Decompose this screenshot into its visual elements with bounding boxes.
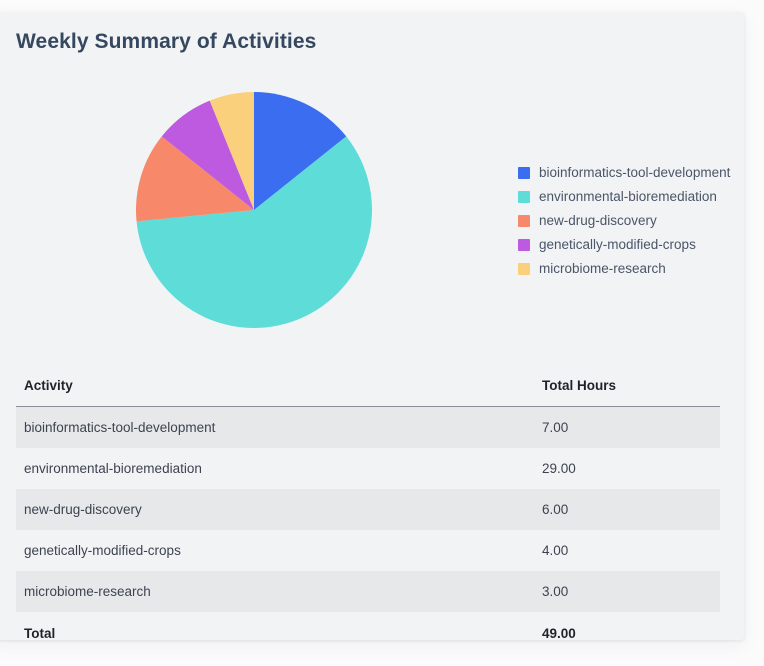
summary-table-wrap: Activity Total Hours bioinformatics-tool… (16, 372, 720, 640)
legend-item[interactable]: microbiome-research (518, 261, 730, 277)
cell-activity: microbiome-research (16, 571, 534, 612)
page-title: Weekly Summary of Activities (16, 30, 316, 54)
cell-total-hours: 29.00 (534, 448, 720, 489)
total-label: Total (16, 612, 534, 640)
table-row: genetically-modified-crops4.00 (16, 530, 720, 571)
pie-chart-svg (136, 92, 372, 328)
column-header-total-hours: Total Hours (534, 372, 720, 407)
legend-item-label: genetically-modified-crops (539, 237, 696, 253)
legend-item[interactable]: environmental-bioremediation (518, 189, 730, 205)
table-row: microbiome-research3.00 (16, 571, 720, 612)
cell-total-hours: 4.00 (534, 530, 720, 571)
legend-item-label: microbiome-research (539, 261, 666, 277)
legend-item[interactable]: genetically-modified-crops (518, 237, 730, 253)
chart-area: bioinformatics-tool-developmentenvironme… (0, 80, 744, 365)
cell-activity: genetically-modified-crops (16, 530, 534, 571)
legend-item[interactable]: new-drug-discovery (518, 213, 730, 229)
column-header-activity: Activity (16, 372, 534, 407)
cell-activity: bioinformatics-tool-development (16, 407, 534, 449)
legend-swatch-icon (518, 191, 530, 203)
chart-legend: bioinformatics-tool-developmentenvironme… (518, 165, 730, 277)
table-body: bioinformatics-tool-development7.00envir… (16, 407, 720, 641)
table-row: bioinformatics-tool-development7.00 (16, 407, 720, 449)
table-header: Activity Total Hours (16, 372, 720, 407)
table-row: new-drug-discovery6.00 (16, 489, 720, 530)
legend-item-label: new-drug-discovery (539, 213, 657, 229)
legend-swatch-icon (518, 215, 530, 227)
cell-total-hours: 6.00 (534, 489, 720, 530)
table-row: environmental-bioremediation29.00 (16, 448, 720, 489)
page-root: Weekly Summary of Activities bioinformat… (0, 0, 764, 666)
summary-card: Weekly Summary of Activities bioinformat… (0, 12, 744, 640)
legend-swatch-icon (518, 239, 530, 251)
cell-total-hours: 3.00 (534, 571, 720, 612)
total-hours-value: 49.00 (534, 612, 720, 640)
cell-total-hours: 7.00 (534, 407, 720, 449)
summary-table: Activity Total Hours bioinformatics-tool… (16, 372, 720, 640)
cell-activity: new-drug-discovery (16, 489, 534, 530)
pie-chart (136, 92, 372, 328)
legend-item[interactable]: bioinformatics-tool-development (518, 165, 730, 181)
legend-swatch-icon (518, 167, 530, 179)
table-header-row: Activity Total Hours (16, 372, 720, 407)
table-total-row: Total49.00 (16, 612, 720, 640)
legend-item-label: environmental-bioremediation (539, 189, 717, 205)
legend-item-label: bioinformatics-tool-development (539, 165, 730, 181)
cell-activity: environmental-bioremediation (16, 448, 534, 489)
legend-swatch-icon (518, 263, 530, 275)
